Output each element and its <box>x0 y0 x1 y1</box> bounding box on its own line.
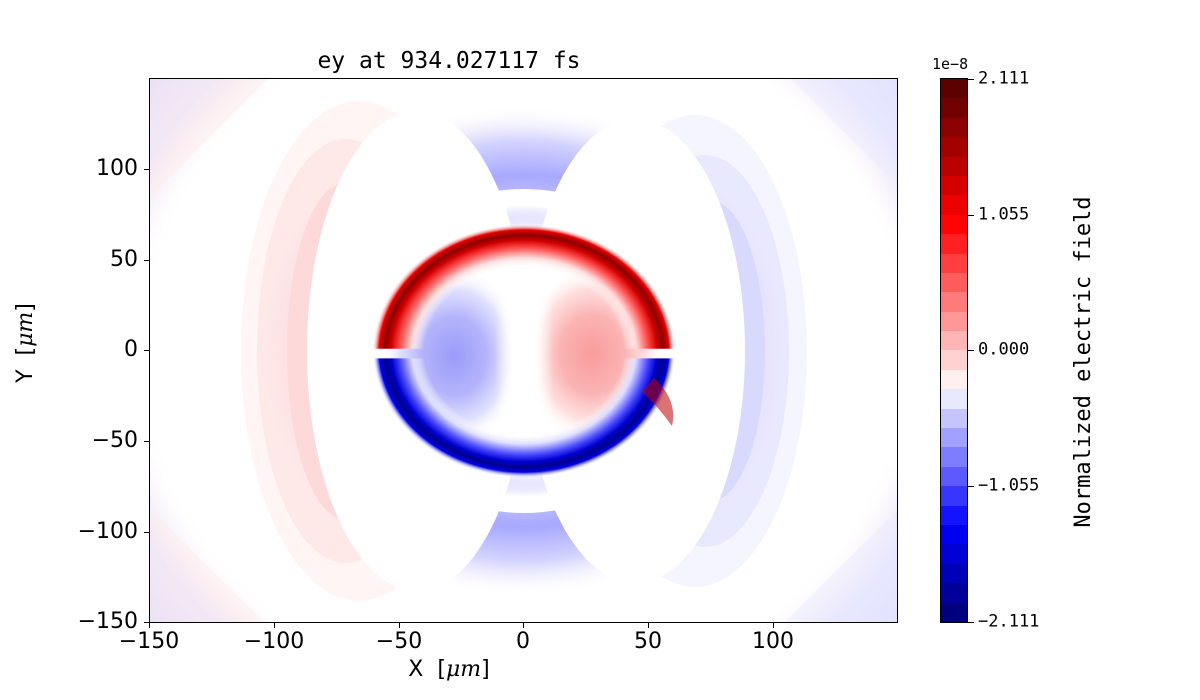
colorbar-band <box>941 157 967 176</box>
x-tick-mark <box>149 623 150 628</box>
inner-core <box>349 189 699 513</box>
y-tick-mark <box>144 169 149 170</box>
colorbar-band <box>941 564 967 583</box>
y-tick-mark <box>144 260 149 261</box>
colorbar-tick-mark <box>968 622 974 623</box>
figure-canvas: ey at 934.027117 fs <box>0 0 1200 700</box>
colorbar-tick-mark <box>968 350 974 351</box>
x-axis-label: X [μm] <box>0 657 898 683</box>
y-tick-label: −100 <box>0 520 138 544</box>
y-tick-mark <box>144 441 149 442</box>
colorbar-tick-label: 2.111 <box>978 70 1029 89</box>
x-tick-mark <box>648 623 649 628</box>
colorbar-band <box>941 215 967 234</box>
colorbar-band <box>941 544 967 563</box>
colorbar-band <box>941 467 967 486</box>
colorbar-band <box>941 447 967 466</box>
y-axis-label: Y [μm] <box>13 203 39 483</box>
colorbar-tick-mark <box>968 79 974 80</box>
colorbar-band <box>941 506 967 525</box>
colorbar-label: Normalized electric field <box>1072 152 1096 572</box>
colorbar-band <box>941 176 967 195</box>
colorbar-band <box>941 428 967 447</box>
y-axis-label-suffix: ] <box>13 303 38 312</box>
colorbar-band <box>941 273 967 292</box>
x-tick-label: −50 <box>376 630 422 654</box>
colorbar-band <box>941 118 967 137</box>
colorbar-band <box>941 292 967 311</box>
field-map-axes <box>149 78 898 623</box>
x-tick-label: 0 <box>516 630 530 654</box>
colorbar-tick-label: −1.055 <box>978 477 1039 496</box>
colorbar-band <box>941 525 967 544</box>
colorbar-band <box>941 137 967 156</box>
x-tick-mark <box>773 623 774 628</box>
field-map-svg <box>149 78 898 623</box>
y-tick-label: −150 <box>0 610 138 634</box>
y-tick-mark <box>144 622 149 623</box>
colorbar-band <box>941 486 967 505</box>
y-tick-mark <box>144 532 149 533</box>
colorbar-tick-mark <box>968 486 974 487</box>
colorbar-tick-label: 0.000 <box>978 341 1029 360</box>
colorbar-band <box>941 350 967 369</box>
colorbar-band <box>941 234 967 253</box>
colorbar-band <box>941 195 967 214</box>
y-axis-label-math: μm <box>13 312 38 347</box>
colorbar-tick-label: 1.055 <box>978 206 1029 225</box>
x-axis-label-prefix: X [ <box>408 657 446 682</box>
x-tick-label: −100 <box>244 630 304 654</box>
x-tick-label: 100 <box>752 630 794 654</box>
colorbar-tick-label: −2.111 <box>978 613 1039 632</box>
colorbar-band <box>941 254 967 273</box>
x-tick-mark <box>399 623 400 628</box>
x-axis-label-suffix: ] <box>481 657 490 682</box>
y-tick-label: 100 <box>0 157 138 181</box>
x-tick-label: 50 <box>634 630 662 654</box>
y-axis-label-prefix: Y [ <box>13 347 38 383</box>
colorbar-band <box>941 409 967 428</box>
colorbar-band <box>941 370 967 389</box>
plot-title: ey at 934.027117 fs <box>0 48 898 74</box>
colorbar-band <box>941 583 967 602</box>
colorbar-band <box>941 331 967 350</box>
y-tick-mark <box>144 350 149 351</box>
colorbar-band <box>941 79 967 98</box>
colorbar-band <box>941 98 967 117</box>
colorbar-tick-mark <box>968 215 974 216</box>
colorbar-offset-text: 1e−8 <box>932 56 968 73</box>
colorbar <box>940 78 968 623</box>
x-tick-mark <box>274 623 275 628</box>
x-tick-mark <box>523 623 524 628</box>
colorbar-band <box>941 312 967 331</box>
x-axis-label-math: μm <box>446 657 481 682</box>
colorbar-band <box>941 603 967 622</box>
colorbar-band <box>941 389 967 408</box>
